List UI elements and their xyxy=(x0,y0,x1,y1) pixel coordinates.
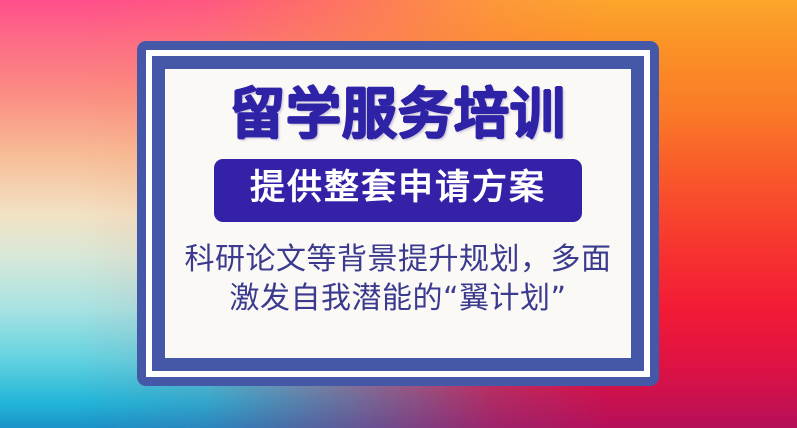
poster-body-line-2: 激发自我潜能的“翼计划” xyxy=(185,279,612,318)
poster-frame-outer: 留学服务培训 提供整套申请方案 科研论文等背景提升规划，多面 激发自我潜能的“翼… xyxy=(137,41,659,386)
poster-headline: 留学服务培训 xyxy=(230,85,566,143)
promo-poster: 留学服务培训 提供整套申请方案 科研论文等背景提升规划，多面 激发自我潜能的“翼… xyxy=(0,0,797,428)
poster-body-copy: 科研论文等背景提升规划，多面 激发自我潜能的“翼计划” xyxy=(185,240,612,318)
poster-content: 留学服务培训 提供整套申请方案 科研论文等背景提升规划，多面 激发自我潜能的“翼… xyxy=(165,69,631,358)
poster-frame-inner: 留学服务培训 提供整套申请方案 科研论文等背景提升规划，多面 激发自我潜能的“翼… xyxy=(152,56,644,371)
poster-body-line-1: 科研论文等背景提升规划，多面 xyxy=(185,240,612,279)
poster-badge: 提供整套申请方案 xyxy=(214,159,582,221)
